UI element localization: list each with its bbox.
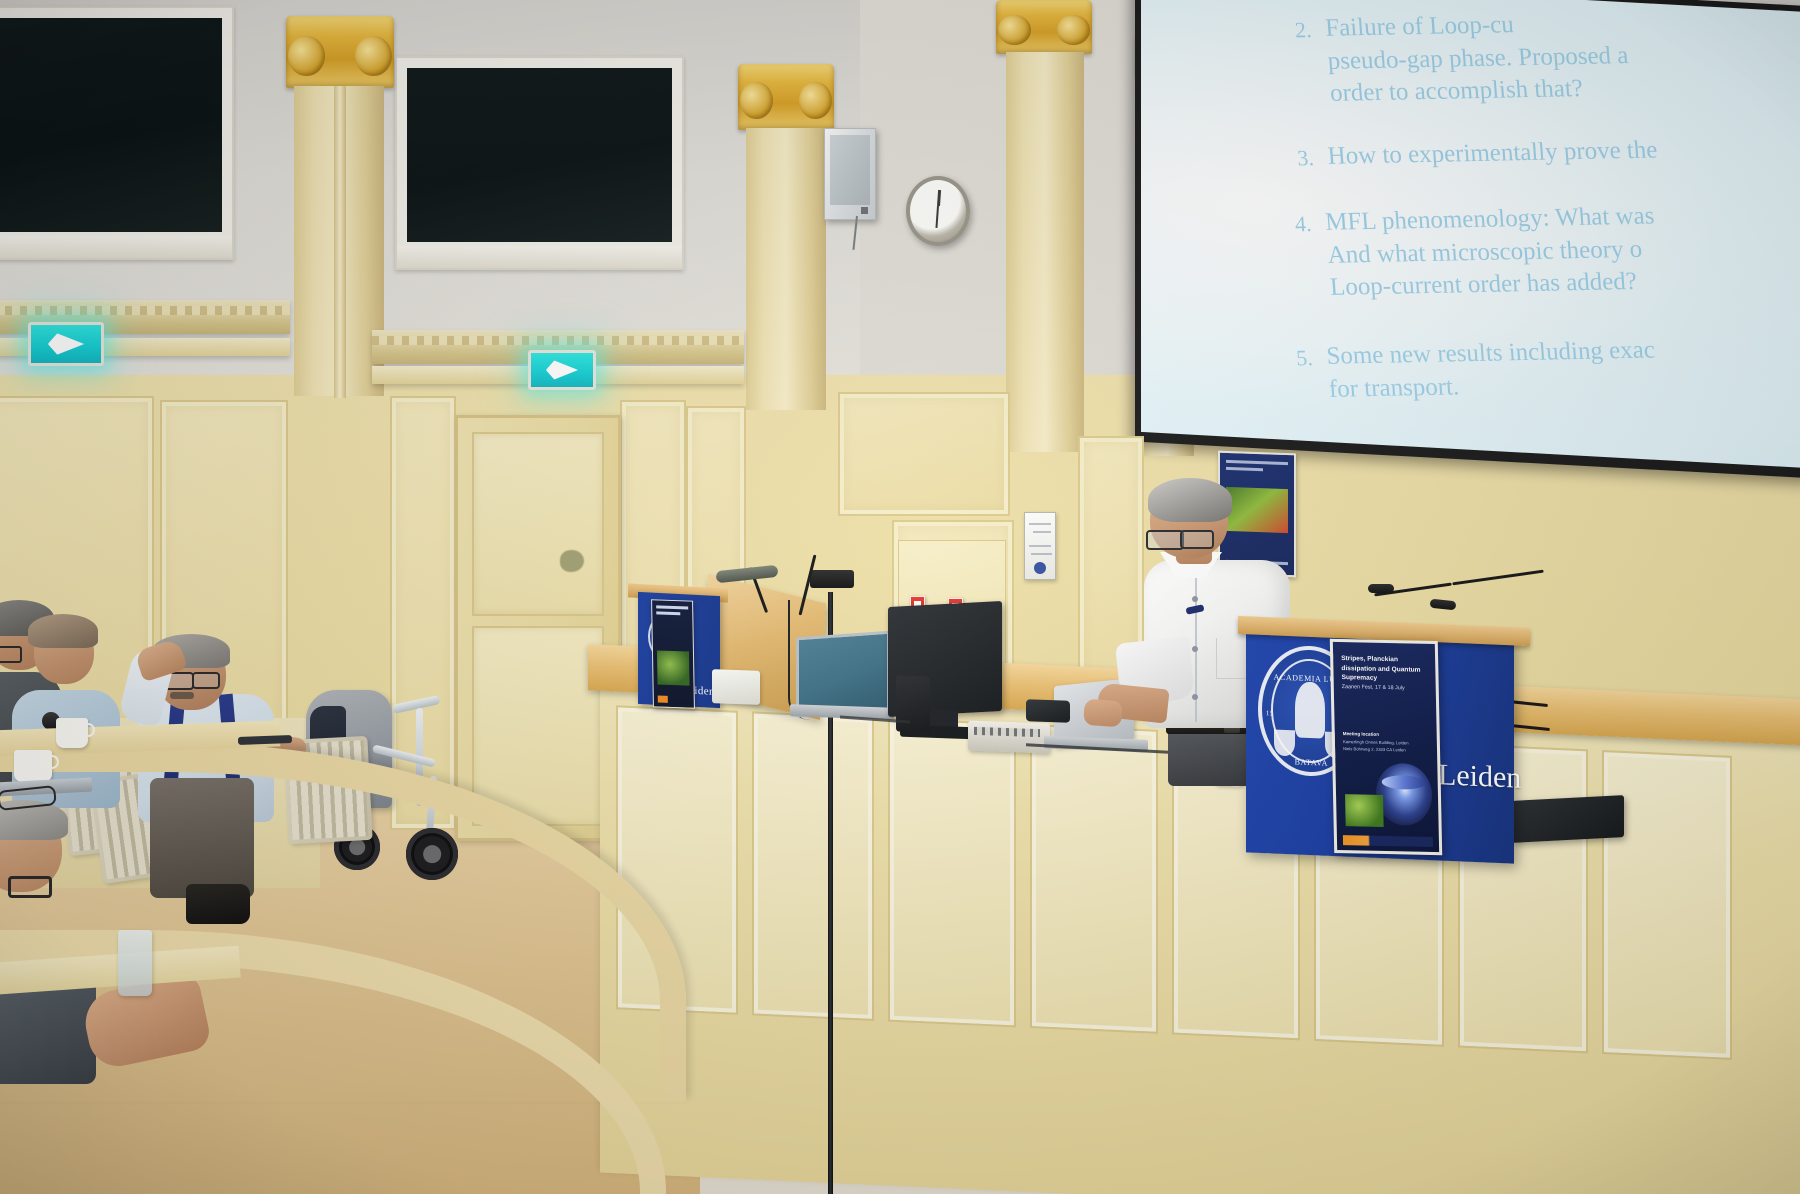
conference-flyer[interactable] [651, 599, 695, 709]
exit-sign-left [28, 322, 104, 366]
slide-item-body: MFL phenomenology: What was And what mic… [1324, 200, 1660, 304]
exit-sign-right [528, 350, 596, 390]
gilded-capital-right [996, 0, 1092, 54]
clock-hour-hand [937, 190, 941, 206]
audience-person-3-glasses-right [192, 672, 220, 689]
pilaster-centre [746, 128, 826, 410]
poster-galaxy-image [1375, 763, 1432, 826]
door-panel-lower [472, 626, 604, 826]
blackboard-surface [407, 68, 672, 242]
projection-screen: 2. Failure of Loop-cu pseudo-gap phase. … [1141, 0, 1800, 468]
slide-item: 5. Some new results including exac for t… [1289, 329, 1800, 406]
coffee-mug-upper[interactable] [56, 718, 88, 748]
wall-info-sign [1024, 512, 1056, 580]
sign-text-line [1033, 531, 1051, 533]
slide-item-number: 4. [1288, 207, 1317, 305]
slide-line: How to experimentally prove the [1327, 134, 1659, 173]
lecture-hall-photo: 2. Failure of Loop-cu pseudo-gap phase. … [0, 0, 1800, 1194]
slide-item-body: Some new results including exac for tran… [1325, 334, 1658, 405]
dentil-band [0, 306, 290, 315]
coffee-mug-lower[interactable] [14, 750, 52, 782]
desk-panel [752, 711, 874, 1021]
exit-arrow-icon [48, 333, 84, 354]
poster-title-line [1226, 467, 1263, 471]
door-panel-upper [472, 432, 604, 616]
desk-panel [1030, 724, 1158, 1034]
exit-arrow-icon [546, 360, 578, 379]
microphone-head [810, 570, 854, 588]
conference-poster[interactable]: Stripes, Planckian dissipation and Quant… [1330, 639, 1442, 855]
dentil-band [372, 336, 744, 345]
pilaster-left-flute [334, 86, 346, 398]
poster-title-line [1226, 460, 1288, 465]
gilded-capital-left [286, 16, 394, 88]
seal-year-left: 15 [1266, 709, 1274, 717]
gilded-capital-centre [738, 64, 834, 130]
shirt-button [1192, 596, 1198, 602]
slide-item-number: 2. [1288, 13, 1317, 111]
flyer-title-line [656, 611, 680, 615]
sign-text-line [1031, 553, 1052, 555]
shirt-button [1192, 646, 1198, 652]
blackboard-right [395, 56, 684, 270]
slide-item: 3. How to experimentally prove the [1291, 129, 1800, 174]
blackboard-surface [0, 18, 222, 232]
speaker-port [861, 207, 868, 214]
conference-poster-title: Stripes, Planckian dissipation and Quant… [1341, 654, 1428, 684]
poster-meta-line: Niels Bohrweg 2, 2333 CA Leiden [1343, 745, 1429, 754]
flyer-logo-bar [658, 695, 668, 702]
pilaster-right [1006, 52, 1084, 452]
wall-panel-upper [838, 392, 1010, 516]
speaker-grille [830, 135, 870, 205]
slide-item-number: 5. [1289, 341, 1316, 407]
white-box-device[interactable] [712, 669, 760, 705]
seal-figure-icon [1295, 681, 1326, 738]
shirt-button [1192, 694, 1198, 700]
slide-item-body: How to experimentally prove the [1327, 134, 1659, 173]
poster-image [1226, 487, 1288, 533]
desk-panel [888, 718, 1016, 1028]
speaker-glasses-lens-right [1180, 530, 1214, 549]
slide-content: 2. Failure of Loop-cu pseudo-gap phase. … [1291, 0, 1800, 443]
podium-brand: Leiden [1438, 758, 1521, 795]
slide-item: 2. Failure of Loop-cu pseudo-gap phase. … [1288, 1, 1800, 111]
speaker-hand [1083, 699, 1123, 728]
seal-text-bottom: BATAVA [1295, 757, 1328, 767]
wall-speaker [824, 128, 876, 220]
clock-minute-hand [935, 206, 939, 228]
slide-line: pseudo-gap phase. Proposed a [1327, 40, 1630, 78]
slide-line: order to accomplish that? [1329, 72, 1632, 110]
far-right-monitor[interactable] [1512, 795, 1624, 843]
poster-sponsor-bar [1343, 835, 1433, 847]
slide-line: for transport. [1328, 366, 1659, 405]
gooseneck-microphone-a-head [1368, 584, 1394, 593]
sign-text-line [1029, 523, 1051, 525]
water-glass[interactable] [118, 930, 152, 996]
speaker-glasses-lens-left [1146, 530, 1184, 550]
slide-item-body: Failure of Loop-cu pseudo-gap phase. Pro… [1324, 7, 1632, 110]
audience-person-1-glasses [0, 646, 22, 663]
slide-item: 4. MFL phenomenology: What was And what … [1288, 195, 1800, 305]
document-camera[interactable] [896, 675, 930, 732]
chalk-ledge [397, 246, 682, 268]
laptop-accessory[interactable] [1026, 699, 1070, 723]
hall-door[interactable] [455, 415, 621, 841]
chalk-ledge [0, 236, 232, 258]
projection-screen-frame: 2. Failure of Loop-cu pseudo-gap phase. … [1135, 0, 1800, 478]
audience-person-2-hair [28, 614, 98, 648]
flyer-title-line [656, 605, 688, 609]
slide-line: Loop-current order has added? [1329, 266, 1660, 305]
blackboard-left [0, 6, 234, 260]
slide-item-number: 3. [1291, 141, 1315, 174]
poster-crystal-image [1345, 794, 1384, 827]
speaker-hair [1148, 478, 1232, 522]
conference-poster-subtitle: Zaanen Fest, 17 & 18 July [1342, 684, 1428, 692]
wall-clock [906, 176, 970, 246]
sign-text-line [1029, 545, 1051, 547]
flyer-image [657, 650, 690, 685]
seal-shield-left-icon [1274, 729, 1295, 757]
slide-line: Some new results including exac [1325, 334, 1656, 373]
sign-logo-icon [1034, 562, 1046, 574]
conference-poster-meta: Meeting location Kamerlingh Onnes Buildi… [1343, 730, 1429, 754]
audience-person-3-moustache [170, 692, 194, 699]
